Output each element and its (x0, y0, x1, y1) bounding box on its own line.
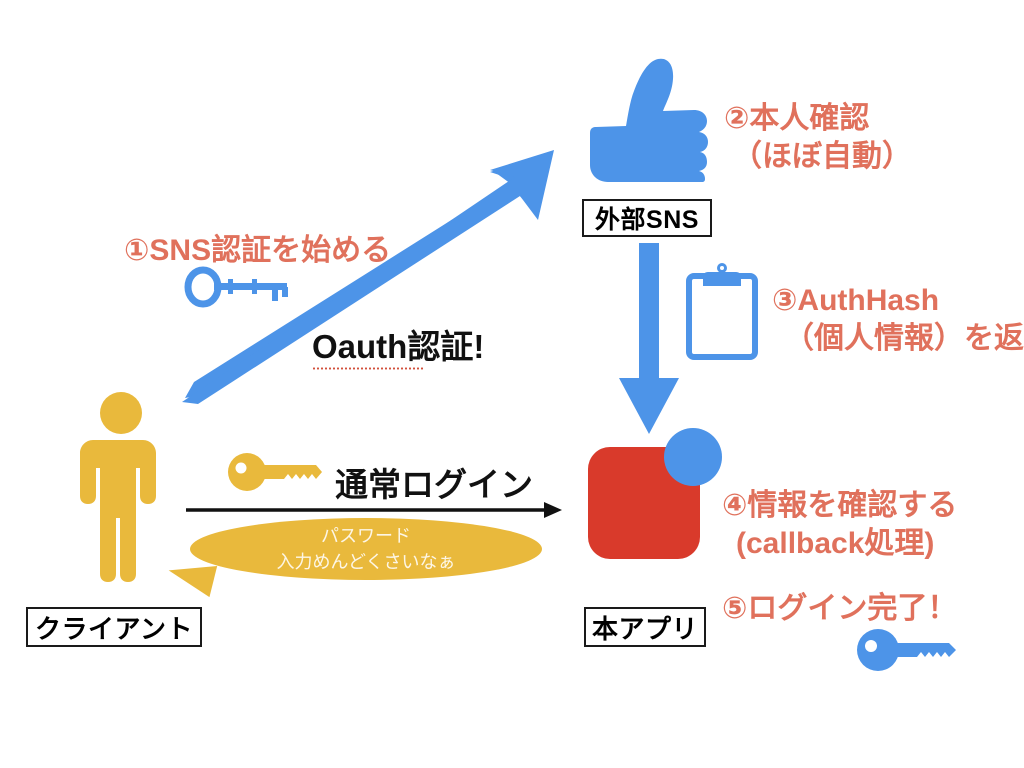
node-label-external-sns: 外部SNS (582, 199, 712, 237)
normal-login-label-text: 通常ログイン (335, 466, 533, 503)
down-arrow-icon (618, 243, 680, 435)
key-icon (856, 628, 958, 672)
bubble-line2: 入力めんどくさいなぁ (277, 549, 456, 575)
clipboard-icon (686, 262, 758, 360)
node-label-client: クライアント (26, 607, 202, 647)
node-label-main-app: 本アプリ (584, 607, 706, 647)
step2-line2: （ほぼ自動） (724, 138, 912, 176)
main-app-label-text: 本アプリ (592, 609, 698, 646)
skeleton-key-icon (186, 268, 290, 306)
step3-line2: （個人情報）を返す (772, 320, 1024, 358)
speech-bubble: パスワード 入力めんどくさいなぁ (168, 518, 542, 590)
oauth-spellcheck-underline (312, 367, 424, 370)
client-label-text: クライアント (35, 609, 193, 646)
step3-annotation: ③AuthHash （個人情報）を返す (772, 282, 1024, 357)
thumbs-up-icon (578, 55, 710, 183)
step5-annotation: ⑤ログイン完了！ (722, 590, 957, 628)
external-sns-label-text: 外部SNS (595, 200, 699, 236)
oauth-flow-label: Oauth認証! (312, 320, 484, 368)
bubble-line1: パスワード (321, 523, 411, 549)
step4-line2: (callback処理) (722, 525, 957, 563)
step2-annotation: ②本人確認 （ほぼ自動） (724, 100, 912, 175)
step2-line1: ②本人確認 (724, 100, 912, 138)
app-badge-dot-icon (664, 428, 722, 486)
step4-line1: ④情報を確認する (722, 487, 957, 525)
gold-key-icon (228, 452, 324, 492)
step1-annotation: ①SNS認証を始める (124, 232, 391, 270)
step5-line1: ⑤ログイン完了！ (722, 590, 957, 628)
step3-line1: ③AuthHash (772, 282, 1024, 320)
step1-text: ①SNS認証を始める (124, 234, 391, 267)
right-arrow-icon (186, 500, 562, 520)
person-icon (72, 392, 172, 582)
diagram-canvas: 外部SNS ②本人確認 （ほぼ自動） ①SNS認証を始める Oauth認証! (0, 0, 1024, 768)
normal-login-label: 通常ログイン (335, 458, 533, 506)
step4-annotation: ④情報を確認する (callback処理) (722, 487, 957, 562)
oauth-label-text: Oauth認証! (312, 328, 484, 365)
